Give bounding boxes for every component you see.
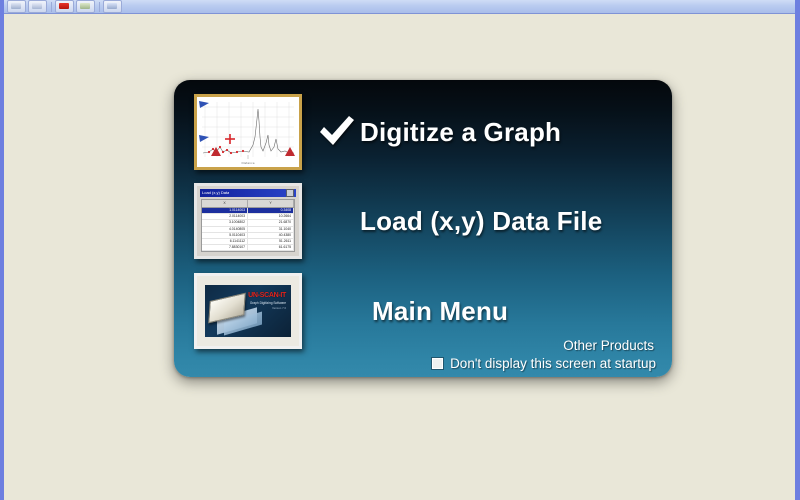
option-label-digitize[interactable]: Digitize a Graph bbox=[360, 117, 561, 148]
toolbar-separator bbox=[99, 2, 100, 12]
table-cell: 3.1004802 bbox=[202, 220, 248, 225]
svg-text:Distance: Distance bbox=[241, 161, 254, 165]
table-cell: 5.0110403 bbox=[202, 233, 248, 238]
toolbar-button-1[interactable] bbox=[7, 0, 26, 13]
table-body: 1.01140030.34082.011400310.26643.1004802… bbox=[202, 208, 294, 252]
thumbnail-table: X Y 1.01140030.34082.011400310.26643.100… bbox=[201, 199, 295, 252]
toolbar-separator bbox=[51, 2, 52, 12]
graph-thumbnail[interactable]: Distance bbox=[194, 94, 302, 170]
check-icon bbox=[317, 114, 357, 150]
graph-thumbnail-image: Distance bbox=[197, 97, 299, 167]
toolbar-button-4[interactable] bbox=[76, 0, 95, 13]
table-cell: 68.3430 bbox=[248, 251, 294, 252]
document-icon bbox=[11, 3, 21, 9]
option-row-digitize[interactable]: Distance Digitize a Graph bbox=[174, 87, 672, 177]
toolbar-button-5[interactable] bbox=[103, 0, 122, 13]
option-label-main-menu[interactable]: Main Menu bbox=[372, 296, 508, 327]
table-column-y: Y bbox=[248, 200, 294, 207]
table-cell: 4.0140805 bbox=[202, 227, 248, 232]
application-window: Distance Digitize a Graph bbox=[0, 0, 800, 500]
graph-preview-svg: Distance bbox=[197, 97, 299, 167]
table-cell: 21.6870 bbox=[248, 220, 294, 225]
table-cell: 0.3408 bbox=[248, 208, 294, 213]
dont-display-checkbox[interactable] bbox=[431, 357, 444, 370]
data-table-thumbnail[interactable]: Load (x,y) Data X Y 1.01140030.34082.011… bbox=[194, 183, 302, 259]
table-cell: 40.4380 bbox=[248, 233, 294, 238]
product-version: Version 7.0 bbox=[272, 306, 286, 310]
page-icon bbox=[80, 3, 90, 9]
startup-splash-dialog: Distance Digitize a Graph bbox=[174, 80, 672, 377]
option-label-load-data[interactable]: Load (x,y) Data File bbox=[360, 206, 602, 237]
toolbar-button-2[interactable] bbox=[28, 0, 47, 13]
option-row-load-data[interactable]: Load (x,y) Data X Y 1.01140030.34082.011… bbox=[174, 176, 672, 266]
table-header-row: X Y bbox=[202, 200, 294, 208]
digitize-checkmark bbox=[314, 114, 360, 150]
thumbnail-titlebar: Load (x,y) Data bbox=[200, 189, 296, 197]
data-table-thumbnail-image: Load (x,y) Data X Y 1.01140030.34082.011… bbox=[197, 186, 299, 256]
table-row[interactable]: 8.116227868.3430 bbox=[202, 251, 294, 252]
toolbar bbox=[4, 0, 795, 14]
product-box-thumbnail-image: UN-SCAN-IT Graph Digitizing Software Ver… bbox=[197, 276, 299, 346]
table-cell: 8.1162278 bbox=[202, 251, 248, 252]
table-cell: 10.2664 bbox=[248, 214, 294, 219]
workspace: Distance Digitize a Graph bbox=[4, 15, 795, 500]
table-cell: 7.8830107 bbox=[202, 245, 248, 250]
toolbar-button-pdf[interactable] bbox=[55, 0, 74, 13]
table-cell: 31.1040 bbox=[248, 227, 294, 232]
table-cell: 2.0114003 bbox=[202, 214, 248, 219]
table-cell: 6.1141112 bbox=[202, 239, 248, 244]
pdf-icon bbox=[59, 3, 69, 9]
image-icon bbox=[107, 3, 117, 9]
product-brand-name: UN-SCAN-IT bbox=[248, 292, 286, 299]
dont-display-label[interactable]: Don't display this screen at startup bbox=[450, 356, 656, 371]
table-column-x: X bbox=[202, 200, 248, 207]
startup-preference-row[interactable]: Don't display this screen at startup bbox=[431, 356, 656, 371]
other-products-link[interactable]: Other Products bbox=[563, 338, 654, 353]
close-icon bbox=[286, 189, 294, 197]
product-box-thumbnail[interactable]: UN-SCAN-IT Graph Digitizing Software Ver… bbox=[194, 273, 302, 349]
table-cell: 1.0114003 bbox=[202, 208, 248, 213]
document-icon bbox=[32, 3, 42, 9]
table-cell: 61.6175 bbox=[248, 245, 294, 250]
product-tagline: Graph Digitizing Software bbox=[250, 301, 286, 305]
product-box-art: UN-SCAN-IT Graph Digitizing Software Ver… bbox=[205, 285, 291, 337]
table-cell: 51.2611 bbox=[248, 239, 294, 244]
thumbnail-title-text: Load (x,y) Data bbox=[202, 189, 229, 197]
